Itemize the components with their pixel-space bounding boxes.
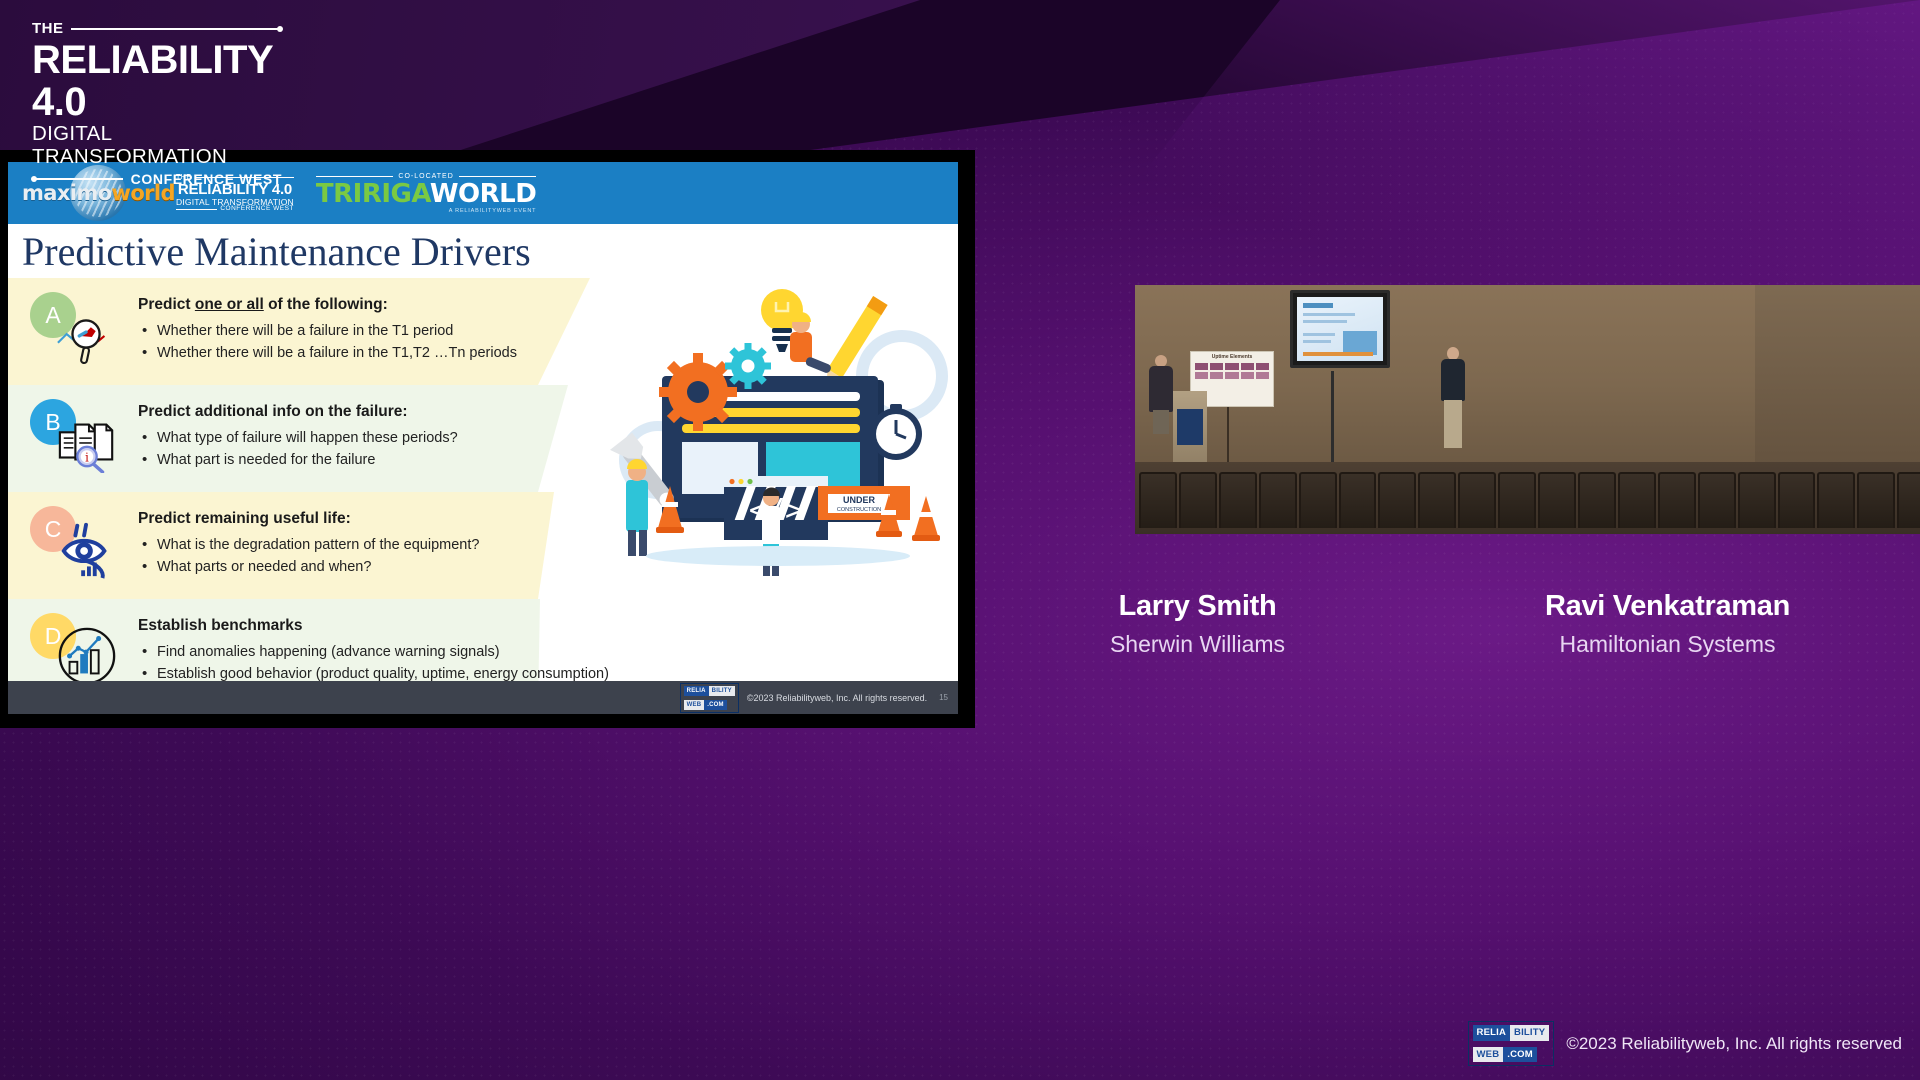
speaker-card-2: Ravi Venkatraman Hamiltonian Systems — [1545, 590, 1790, 658]
row-a-heading-pre: Predict — [138, 296, 195, 313]
world-part: WORLD — [430, 179, 536, 209]
speaker1-body — [1149, 366, 1173, 412]
rw-logo-bility: BILITY — [709, 686, 735, 696]
slide-content-rows: A Predict one or all of the following: W… — [8, 278, 958, 706]
row-d-bullets: Find anomalies happening (advance warnin… — [138, 644, 609, 682]
speaker1-legs — [1153, 410, 1169, 434]
driver-row-a: A Predict one or all of the following: W… — [8, 278, 958, 385]
conference-logo-title: RELIABILITY 4.0 — [32, 39, 282, 123]
conference-logo: THE RELIABILITY 4.0 DIGITAL TRANSFORMATI… — [32, 20, 282, 187]
rw-logo-relia: RELIA — [684, 686, 709, 696]
slide-copyright: ©2023 Reliabilityweb, Inc. All rights re… — [747, 693, 927, 703]
poster-grid — [1191, 360, 1273, 382]
row-c-text: Predict remaining useful life: What is t… — [138, 510, 479, 581]
conference-logo-subtitle: DIGITAL TRANSFORMATION — [32, 123, 282, 168]
list-item: Whether there will be a failure in the T… — [138, 345, 517, 361]
tririga-part: TRIRIGA — [316, 179, 430, 209]
speaker-1-name: Larry Smith — [1110, 590, 1285, 623]
speaker-at-podium — [1149, 355, 1173, 433]
row-b-text: Predict additional info on the failure: … — [138, 403, 458, 474]
svg-text:i: i — [85, 450, 89, 464]
speaker-video-feed[interactable]: Uptime Elements — [1135, 285, 1920, 534]
podium — [1173, 391, 1207, 471]
row-a-text: Predict one or all of the following: Whe… — [138, 296, 517, 367]
r40-edition-row: CONFERENCE WEST — [176, 206, 294, 213]
row-a-heading-underline: one or all — [195, 296, 264, 313]
speaker-2-org: Hamiltonian Systems — [1545, 631, 1790, 658]
row-a-bullets: Whether there will be a failure in the T… — [138, 323, 517, 361]
bottom-copyright-bar: RELIABILITY WEB.COM ©2023 Reliabilityweb… — [1468, 1021, 1902, 1066]
conference-logo-toprow: THE — [32, 20, 282, 37]
row-c-badge-zone: C — [8, 492, 138, 599]
magnifier-trend-icon — [56, 304, 118, 366]
tririgaworld-wordmark: TRIRIGAWORLD — [316, 181, 536, 207]
rw-bottom-relia: RELIA — [1473, 1025, 1511, 1041]
speaker-1-org: Sherwin Williams — [1110, 631, 1285, 658]
row-a-heading: Predict one or all of the following: — [138, 296, 517, 314]
speaker2-body — [1441, 359, 1465, 401]
list-item: Find anomalies happening (advance warnin… — [138, 644, 609, 660]
rw-bottom-bility: BILITY — [1510, 1025, 1549, 1041]
row-d-text: Establish benchmarks Find anomalies happ… — [138, 617, 609, 688]
speaker-2-name: Ravi Venkatraman — [1545, 590, 1790, 623]
list-item: Whether there will be a failure in the T… — [138, 323, 517, 339]
rw-bottom-com: .COM — [1503, 1047, 1537, 1063]
documents-info-search-icon: i — [56, 411, 118, 473]
row-d-heading: Establish benchmarks — [138, 617, 609, 635]
logo-rule-top — [71, 28, 283, 30]
list-item: What part is needed for the failure — [138, 452, 458, 468]
tv-screen — [1297, 297, 1383, 361]
row-b-wedge — [538, 385, 958, 492]
slide-number: 15 — [939, 693, 948, 702]
list-item: What is the degradation pattern of the e… — [138, 537, 479, 553]
tririgaworld-logo: CO-LOCATED TRIRIGAWORLD A RELIABILITYWEB… — [316, 173, 536, 214]
logo-rule-bottom — [32, 178, 123, 180]
slide-title: Predictive Maintenance Drivers — [8, 224, 958, 278]
rw-logo-web: WEB — [684, 700, 705, 710]
list-item: What parts or needed and when? — [138, 559, 479, 575]
eye-analytics-icon — [56, 518, 118, 580]
bar-chart-trend-icon — [56, 625, 118, 687]
rw-bottom-web: WEB — [1473, 1047, 1504, 1063]
speaker-standing — [1440, 347, 1466, 451]
speaker-card-1: Larry Smith Sherwin Williams — [1110, 590, 1285, 658]
row-c-bullets: What is the degradation pattern of the e… — [138, 537, 479, 575]
row-a-heading-post: of the following: — [264, 296, 388, 313]
slide-footer: RELIABILITY WEB.COM ©2023 Reliabilityweb… — [8, 681, 958, 714]
list-item: What type of failure will happen these p… — [138, 430, 458, 446]
row-b-heading: Predict additional info on the failure: — [138, 403, 458, 421]
podium-sign — [1177, 409, 1203, 445]
conference-logo-bottomrow: CONFERENCE WEST — [32, 171, 282, 187]
row-b-badge-zone: B i — [8, 385, 138, 492]
driver-row-b: B i — [8, 385, 958, 492]
r40-edition: CONFERENCE WEST — [220, 206, 294, 213]
row-c-heading: Predict remaining useful life: — [138, 510, 479, 528]
reliabilityweb-logo-bottom: RELIABILITY WEB.COM — [1468, 1021, 1555, 1066]
presentation-slide[interactable]: maximoworld THE RELIABILITY 4.0 DIGITAL … — [8, 162, 958, 714]
rw-logo-com: .COM — [704, 700, 726, 710]
audience-chairs — [1135, 472, 1920, 534]
reliabilityweb-logo-slide: RELIABILITY WEB.COM — [680, 683, 739, 713]
bottom-copyright-text: ©2023 Reliabilityweb, Inc. All rights re… — [1566, 1034, 1902, 1054]
speaker-names: Larry Smith Sherwin Williams Ravi Venkat… — [980, 590, 1920, 658]
driver-row-c: C Predict remaining useful life: — [8, 492, 958, 599]
row-b-bullets: What type of failure will happen these p… — [138, 430, 458, 468]
row-c-wedge — [538, 492, 958, 599]
tv-stand — [1331, 371, 1334, 467]
presentation-stage: THE RELIABILITY 4.0 DIGITAL TRANSFORMATI… — [0, 0, 1920, 1080]
list-item: Establish good behavior (product quality… — [138, 666, 609, 682]
speaker2-legs — [1444, 400, 1462, 448]
row-a-wedge — [538, 278, 958, 385]
video-wall-tv — [1290, 290, 1390, 368]
row-a-badge-zone: A — [8, 278, 138, 385]
conference-logo-the: THE — [32, 20, 64, 37]
conference-logo-edition: CONFERENCE WEST — [131, 171, 282, 187]
